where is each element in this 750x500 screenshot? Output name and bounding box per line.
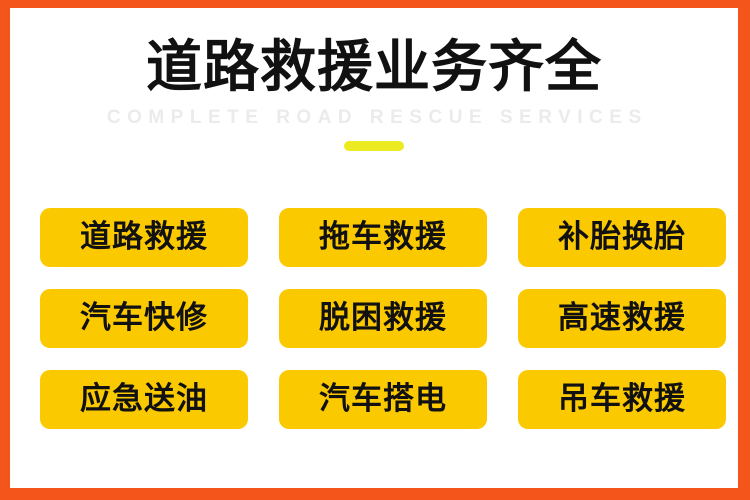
page-title: 道路救援业务齐全 (10, 8, 738, 96)
service-button-label: 汽车快修 (80, 303, 208, 334)
frame-border-right (738, 0, 750, 500)
service-button-quick-car-repair[interactable]: 汽车快修 (40, 289, 248, 348)
poster-root: 道路救援业务齐全 COMPLETE ROAD RESCUE SERVICES 道… (0, 0, 750, 500)
service-button-label: 拖车救援 (319, 222, 447, 253)
service-button-extrication-rescue[interactable]: 脱困救援 (279, 289, 487, 348)
service-button-label: 脱困救援 (319, 303, 447, 334)
title-underline-accent (344, 141, 404, 151)
frame-border-top (0, 0, 750, 8)
service-grid: 道路救援 拖车救援 补胎换胎 汽车快修 脱困救援 高速救援 应急送油 汽车搭电 (40, 208, 725, 429)
page-subtitle: COMPLETE ROAD RESCUE SERVICES (10, 96, 738, 127)
frame-border-left (0, 0, 10, 500)
service-button-crane-rescue[interactable]: 吊车救援 (518, 370, 726, 429)
service-button-road-rescue[interactable]: 道路救援 (40, 208, 248, 267)
service-button-label: 补胎换胎 (558, 222, 686, 253)
service-button-emergency-fuel-delivery[interactable]: 应急送油 (40, 370, 248, 429)
service-button-tow-truck-rescue[interactable]: 拖车救援 (279, 208, 487, 267)
service-button-highway-rescue[interactable]: 高速救援 (518, 289, 726, 348)
service-button-label: 汽车搭电 (319, 384, 447, 415)
service-button-tire-repair-replace[interactable]: 补胎换胎 (518, 208, 726, 267)
poster-canvas: 道路救援业务齐全 COMPLETE ROAD RESCUE SERVICES 道… (10, 8, 738, 488)
service-button-jump-start[interactable]: 汽车搭电 (279, 370, 487, 429)
poster-header: 道路救援业务齐全 COMPLETE ROAD RESCUE SERVICES (10, 8, 738, 151)
service-button-label: 高速救援 (558, 303, 686, 334)
service-button-label: 吊车救援 (558, 384, 686, 415)
frame-border-bottom (0, 488, 750, 500)
service-button-label: 应急送油 (80, 384, 208, 415)
service-button-label: 道路救援 (80, 222, 208, 253)
